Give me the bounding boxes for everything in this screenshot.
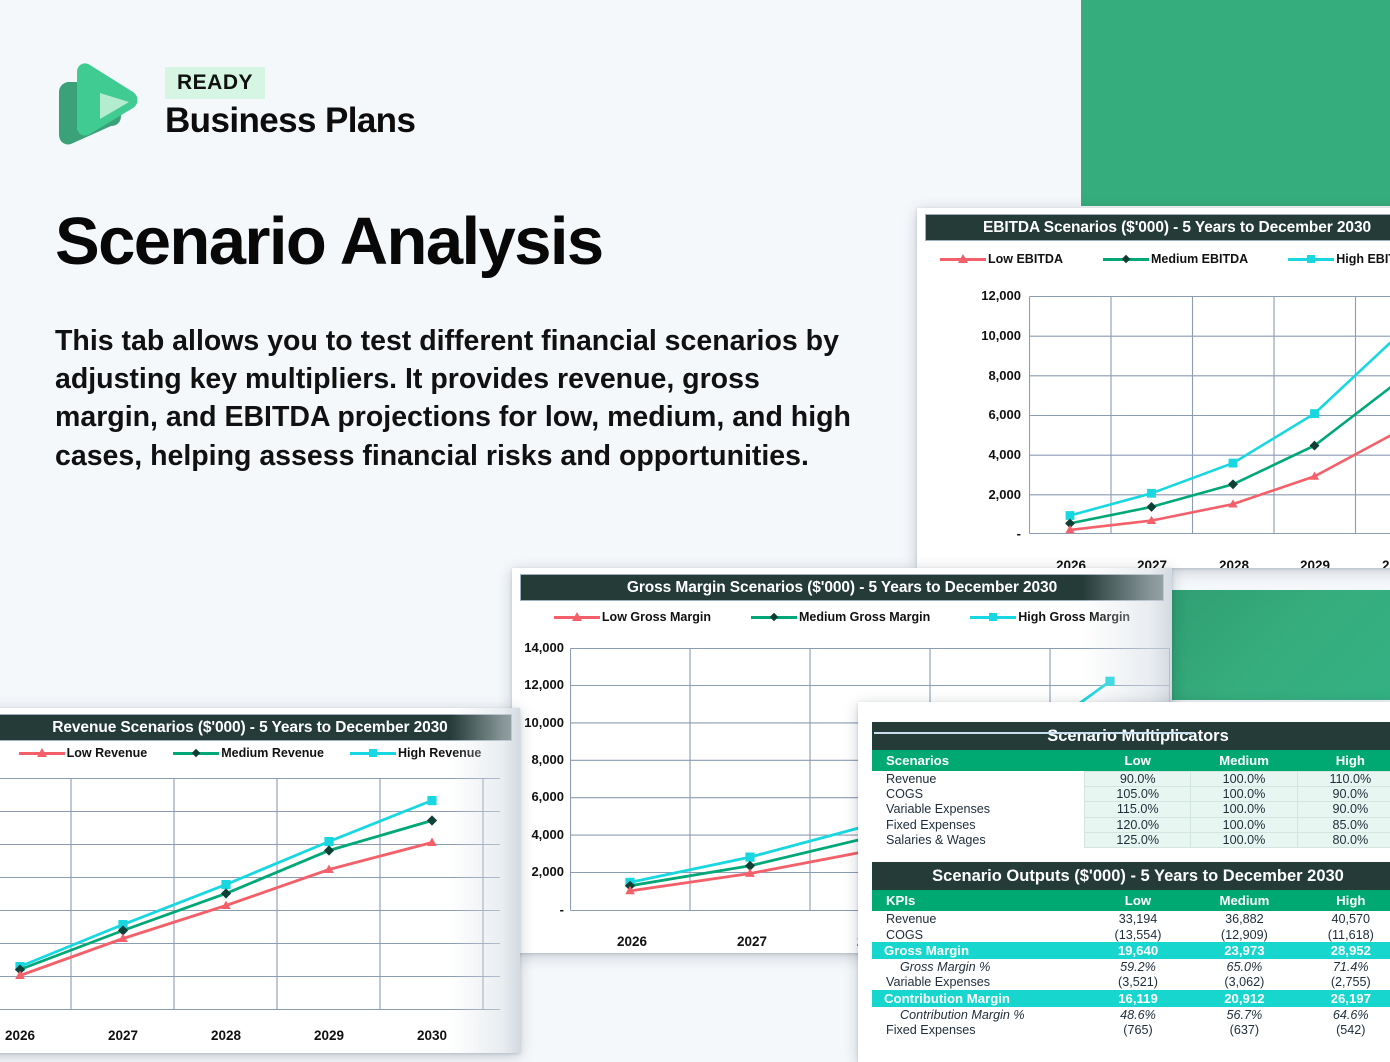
- cell-low[interactable]: 90.0%: [1085, 771, 1191, 786]
- scenario-multiplicators-table: Scenario Multiplicators Scenarios Low Me…: [872, 722, 1390, 848]
- outputs-grid: KPIs Low Medium High Revenue 33,194 36,8…: [872, 890, 1390, 1037]
- cell-low: 33,194: [1085, 911, 1191, 926]
- cell-medium: 20,912: [1191, 990, 1297, 1007]
- chart-title-revenue: Revenue Scenarios ($'000) - 5 Years to D…: [0, 714, 512, 741]
- chart-legend-revenue: Low Revenue Medium Revenue High Revenue: [0, 746, 520, 760]
- cell-high[interactable]: 80.0%: [1297, 833, 1390, 848]
- legend-item-low-gross-margin: Low Gross Margin: [554, 610, 711, 624]
- chart-panel-ebitda: EBITDA Scenarios ($'000) - 5 Years to De…: [917, 208, 1390, 568]
- scenario-tables-panel: Scenario Multiplicators Scenarios Low Me…: [858, 702, 1390, 1062]
- x-axis-tick: 2028: [1193, 558, 1275, 568]
- chart-title-gross-margin: Gross Margin Scenarios ($'000) - 5 Years…: [520, 574, 1164, 601]
- panel-top-rule: [874, 732, 1194, 734]
- x-axis-tick: 2030: [1356, 558, 1390, 568]
- ready-badge: READY: [165, 67, 265, 99]
- cell-medium: (637): [1191, 1022, 1297, 1037]
- legend-item-high-ebitda: High EBITDA: [1288, 252, 1390, 266]
- column-header: Low: [1085, 750, 1191, 771]
- column-header: Medium: [1191, 890, 1297, 911]
- cell-high: (11,618): [1298, 927, 1390, 942]
- legend-marker-triangle-icon: [940, 254, 986, 264]
- legend-label: Medium Revenue: [221, 746, 324, 760]
- decorative-green-block-middle: [1170, 590, 1390, 700]
- chart-legend-gross-margin: Low Gross Margin Medium Gross Margin Hig…: [512, 610, 1172, 624]
- table-row: Fixed Expenses 120.0% 100.0% 85.0%: [872, 817, 1390, 832]
- brand-name: Business Plans: [165, 103, 415, 140]
- page-title: Scenario Analysis: [55, 207, 603, 277]
- legend-marker-triangle-icon: [554, 612, 600, 622]
- column-header: Scenarios: [872, 750, 1085, 771]
- table-row: Variable Expenses (3,521) (3,062) (2,755…: [872, 975, 1390, 990]
- cell-medium[interactable]: 100.0%: [1191, 817, 1297, 832]
- chart-plot-revenue: [0, 778, 500, 1013]
- legend-item-low-revenue: Low Revenue: [19, 746, 148, 760]
- legend-label: High Revenue: [398, 746, 481, 760]
- legend-marker-triangle-icon: [19, 748, 65, 758]
- row-label: Fixed Expenses: [872, 817, 1085, 832]
- legend-label: High Gross Margin: [1018, 610, 1130, 624]
- row-label: COGS: [872, 786, 1085, 801]
- row-label: Salaries & Wages: [872, 833, 1085, 848]
- cell-high: 40,570: [1298, 911, 1390, 926]
- column-header: High: [1297, 750, 1390, 771]
- legend-label: High EBITDA: [1336, 252, 1390, 266]
- cell-high: 71.4%: [1298, 959, 1390, 974]
- chart-legend-ebitda: Low EBITDA Medium EBITDA High EBITDA: [917, 252, 1390, 266]
- cell-high: 64.6%: [1298, 1007, 1390, 1022]
- cell-low: 48.6%: [1085, 1007, 1191, 1022]
- y-axis-tick: 12,000: [512, 677, 564, 692]
- y-axis-tick: 10,000: [937, 328, 1021, 343]
- cell-medium[interactable]: 100.0%: [1191, 786, 1297, 801]
- y-axis-tick: 12,000: [937, 288, 1021, 303]
- column-header: Medium: [1191, 750, 1297, 771]
- y-axis-tick: 4,000: [937, 447, 1021, 462]
- outputs-title: Scenario Outputs ($'000) - 5 Years to De…: [872, 862, 1390, 890]
- multiplicators-grid: Scenarios Low Medium High Revenue 90.0% …: [872, 750, 1390, 848]
- legend-marker-square-icon: [350, 748, 396, 758]
- legend-item-medium-gross-margin: Medium Gross Margin: [751, 610, 930, 624]
- cell-high[interactable]: 85.0%: [1297, 817, 1390, 832]
- x-axis-tick: 2027: [1111, 558, 1193, 568]
- column-header: Low: [1085, 890, 1191, 911]
- cell-low[interactable]: 125.0%: [1085, 833, 1191, 848]
- y-axis-tick: 6,000: [937, 407, 1021, 422]
- table-row: COGS (13,554) (12,909) (11,618): [872, 927, 1390, 942]
- table-row: Gross Margin % 59.2% 65.0% 71.4%: [872, 959, 1390, 974]
- legend-marker-square-icon: [970, 612, 1016, 622]
- scenario-outputs-table: Scenario Outputs ($'000) - 5 Years to De…: [872, 862, 1390, 1037]
- cell-low: (3,521): [1085, 975, 1191, 990]
- row-label: Variable Expenses: [872, 975, 1085, 990]
- multiplicators-title: Scenario Multiplicators: [872, 722, 1390, 750]
- legend-item-high-revenue: High Revenue: [350, 746, 481, 760]
- table-row: Variable Expenses 115.0% 100.0% 90.0%: [872, 802, 1390, 817]
- table-row: Revenue 33,194 36,882 40,570: [872, 911, 1390, 926]
- legend-marker-diamond-icon: [751, 612, 797, 622]
- legend-item-low-ebitda: Low EBITDA: [940, 252, 1063, 266]
- row-label: Fixed Expenses: [872, 1022, 1085, 1037]
- row-label: Revenue: [872, 911, 1085, 926]
- y-axis-tick: 14,000: [512, 640, 564, 655]
- cell-low: 16,119: [1085, 990, 1191, 1007]
- play-triangle-logo-icon: [55, 58, 143, 148]
- y-axis-tick: 2,000: [937, 487, 1021, 502]
- x-axis-tick: 2027: [710, 934, 794, 949]
- cell-low: 59.2%: [1085, 959, 1191, 974]
- cell-medium: (3,062): [1191, 975, 1297, 990]
- cell-medium: 36,882: [1191, 911, 1297, 926]
- table-row: Salaries & Wages 125.0% 100.0% 80.0%: [872, 833, 1390, 848]
- cell-medium: 56.7%: [1191, 1007, 1297, 1022]
- column-header: KPIs: [872, 890, 1085, 911]
- cell-high[interactable]: 90.0%: [1297, 802, 1390, 817]
- cell-medium[interactable]: 100.0%: [1191, 771, 1297, 786]
- chart-plot-ebitda: [1029, 296, 1390, 534]
- row-label: COGS: [872, 927, 1085, 942]
- legend-item-medium-ebitda: Medium EBITDA: [1103, 252, 1248, 266]
- cell-high: (2,755): [1298, 975, 1390, 990]
- table-row-highlight: Gross Margin 19,640 23,973 28,952: [872, 942, 1390, 959]
- y-axis-tick: -: [937, 526, 1021, 541]
- row-label: Contribution Margin: [872, 990, 1085, 1007]
- legend-marker-diamond-icon: [1103, 254, 1149, 264]
- chart-title-ebitda: EBITDA Scenarios ($'000) - 5 Years to De…: [925, 214, 1390, 241]
- cell-medium[interactable]: 100.0%: [1191, 833, 1297, 848]
- x-axis-tick: 2030: [392, 1028, 472, 1043]
- row-label: Revenue: [872, 771, 1085, 786]
- cell-medium: (12,909): [1191, 927, 1297, 942]
- legend-item-high-gross-margin: High Gross Margin: [970, 610, 1130, 624]
- row-label: Gross Margin %: [872, 959, 1085, 974]
- row-label: Gross Margin: [872, 942, 1085, 959]
- legend-item-medium-revenue: Medium Revenue: [173, 746, 324, 760]
- table-row: Fixed Expenses (765) (637) (542): [872, 1022, 1390, 1037]
- legend-marker-diamond-icon: [173, 748, 219, 758]
- x-axis-tick: 2026: [590, 934, 674, 949]
- table-header-row: Scenarios Low Medium High: [872, 750, 1390, 771]
- x-axis-tick: 2029: [1274, 558, 1356, 568]
- x-axis-tick: 2029: [289, 1028, 369, 1043]
- cell-medium: 65.0%: [1191, 959, 1297, 974]
- cell-high[interactable]: 110.0%: [1297, 771, 1390, 786]
- table-row: COGS 105.0% 100.0% 90.0%: [872, 786, 1390, 801]
- legend-label: Low Gross Margin: [602, 610, 711, 624]
- legend-label: Medium Gross Margin: [799, 610, 930, 624]
- cell-high: (542): [1298, 1022, 1390, 1037]
- y-axis-tick: 8,000: [937, 368, 1021, 383]
- cell-high: 26,197: [1298, 990, 1390, 1007]
- cell-low: (765): [1085, 1022, 1191, 1037]
- legend-label: Low EBITDA: [988, 252, 1063, 266]
- row-label: Variable Expenses: [872, 802, 1085, 817]
- table-row: Contribution Margin % 48.6% 56.7% 64.6%: [872, 1007, 1390, 1022]
- cell-high: 28,952: [1298, 942, 1390, 959]
- row-label: Contribution Margin %: [872, 1007, 1085, 1022]
- x-axis-tick: 2026: [0, 1028, 60, 1043]
- decorative-green-block-top: [1081, 0, 1390, 206]
- page-description: This tab allows you to test different fi…: [55, 322, 855, 475]
- column-header: High: [1298, 890, 1390, 911]
- chart-panel-revenue: Revenue Scenarios ($'000) - 5 Years to D…: [0, 708, 520, 1053]
- cell-low: 19,640: [1085, 942, 1191, 959]
- table-row-highlight: Contribution Margin 16,119 20,912 26,197: [872, 990, 1390, 1007]
- table-header-row: KPIs Low Medium High: [872, 890, 1390, 911]
- x-axis-tick: 2026: [1030, 558, 1112, 568]
- cell-low[interactable]: 105.0%: [1085, 786, 1191, 801]
- brand-logo-lockup: READY Business Plans: [55, 58, 415, 148]
- legend-label: Low Revenue: [67, 746, 148, 760]
- x-axis-tick: 2027: [83, 1028, 163, 1043]
- cell-low: (13,554): [1085, 927, 1191, 942]
- cell-low[interactable]: 115.0%: [1085, 802, 1191, 817]
- cell-low[interactable]: 120.0%: [1085, 817, 1191, 832]
- legend-marker-square-icon: [1288, 254, 1334, 264]
- cell-medium[interactable]: 100.0%: [1191, 802, 1297, 817]
- x-axis-tick: 2028: [186, 1028, 266, 1043]
- cell-high[interactable]: 90.0%: [1297, 786, 1390, 801]
- table-row: Revenue 90.0% 100.0% 110.0%: [872, 771, 1390, 786]
- cell-medium: 23,973: [1191, 942, 1297, 959]
- legend-label: Medium EBITDA: [1151, 252, 1248, 266]
